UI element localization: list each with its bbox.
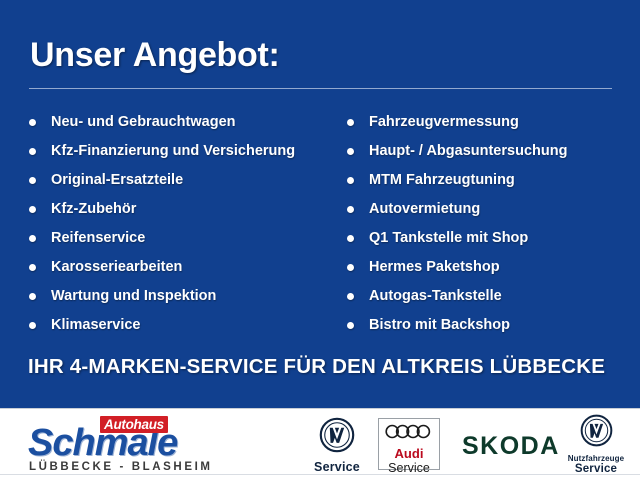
list-item: Kfz-Zubehör [29,195,339,224]
list-item: Hermes Paketshop [347,253,632,282]
bullet-icon [347,264,354,271]
list-item-label: Kfz-Zubehör [51,201,136,217]
bullet-icon [29,177,36,184]
bullet-icon [29,264,36,271]
list-item-label: Klimaservice [51,317,140,333]
bullet-icon [347,206,354,213]
list-item: MTM Fahrzeugtuning [347,166,632,195]
list-item-label: Reifenservice [51,230,145,246]
list-item: Neu- und Gebrauchtwagen [29,108,339,137]
list-item-label: Wartung und Inspektion [51,288,216,304]
brand-label: Service [306,460,368,474]
volkswagen-logo-icon [319,417,355,453]
offer-list-left: Neu- und Gebrauchtwagen Kfz-Finanzierung… [29,108,339,340]
brand-logo-vw-service: Service [306,417,368,474]
dealer-badge: Autohaus [100,416,168,433]
bullet-icon [29,148,36,155]
audi-brand-label: Audi [379,447,439,461]
list-item: Klimaservice [29,311,339,340]
list-item: Original-Ersatzteile [29,166,339,195]
list-item: Q1 Tankstelle mit Shop [347,224,632,253]
list-item-label: Original-Ersatzteile [51,172,183,188]
bullet-icon [29,235,36,242]
list-item-label: MTM Fahrzeugtuning [369,172,515,188]
list-item: Bistro mit Backshop [347,311,632,340]
audi-rings-icon [379,424,439,444]
list-item-label: Autogas-Tankstelle [369,288,502,304]
bullet-icon [347,148,354,155]
title-divider [29,88,612,89]
list-item: Haupt- / Abgasuntersuchung [347,137,632,166]
list-item-label: Hermes Paketshop [369,259,500,275]
brand-logo-audi-service: Audi Service [378,418,440,470]
brand-logo-skoda: SKODA [462,432,560,461]
brand-sublabel: Nutzfahrzeuge [556,454,636,463]
dealer-logo: Schmale Autohaus LÜBBECKE - BLASHEIM [28,414,223,472]
bullet-icon [29,322,36,329]
list-item: Autovermietung [347,195,632,224]
list-item-label: Fahrzeugvermessung [369,114,519,130]
list-item-label: Autovermietung [369,201,480,217]
bullet-icon [29,119,36,126]
list-item-label: Q1 Tankstelle mit Shop [369,230,528,246]
dealer-locations: LÜBBECKE - BLASHEIM [29,461,213,473]
bullet-icon [347,293,354,300]
bullet-icon [29,293,36,300]
list-item: Kfz-Finanzierung und Versicherung [29,137,339,166]
list-item-label: Neu- und Gebrauchtwagen [51,114,236,130]
offer-column-left: Neu- und Gebrauchtwagen Kfz-Finanzierung… [29,108,339,340]
brand-label: Service [556,463,636,475]
list-item: Wartung und Inspektion [29,282,339,311]
list-item-label: Karosseriearbeiten [51,259,182,275]
list-item: Autogas-Tankstelle [347,282,632,311]
bullet-icon [347,119,354,126]
brand-logo-vw-nutzfahrzeuge: Nutzfahrzeuge Service [556,414,636,475]
bullet-icon [347,235,354,242]
offer-columns: Neu- und Gebrauchtwagen Kfz-Finanzierung… [0,108,640,338]
bullet-icon [29,206,36,213]
offer-panel: Unser Angebot: Neu- und Gebrauchtwagen K… [0,0,640,408]
bullet-icon [347,177,354,184]
list-item-label: Haupt- / Abgasuntersuchung [369,143,567,159]
volkswagen-logo-icon [580,414,613,447]
list-item: Fahrzeugvermessung [347,108,632,137]
logo-bar-bottom-divider [0,474,640,475]
offer-column-right: Fahrzeugvermessung Haupt- / Abgasuntersu… [347,108,632,340]
tagline: IHR 4-MARKEN-SERVICE FÜR DEN ALTKREIS LÜ… [28,355,605,379]
bullet-icon [347,322,354,329]
offer-list-right: Fahrzeugvermessung Haupt- / Abgasuntersu… [347,108,632,340]
audi-service-label: Service [379,461,439,475]
list-item: Karosseriearbeiten [29,253,339,282]
advertisement-page: Unser Angebot: Neu- und Gebrauchtwagen K… [0,0,640,480]
list-item-label: Bistro mit Backshop [369,317,510,333]
page-title: Unser Angebot: [30,36,280,75]
list-item: Reifenservice [29,224,339,253]
list-item-label: Kfz-Finanzierung und Versicherung [51,143,295,159]
